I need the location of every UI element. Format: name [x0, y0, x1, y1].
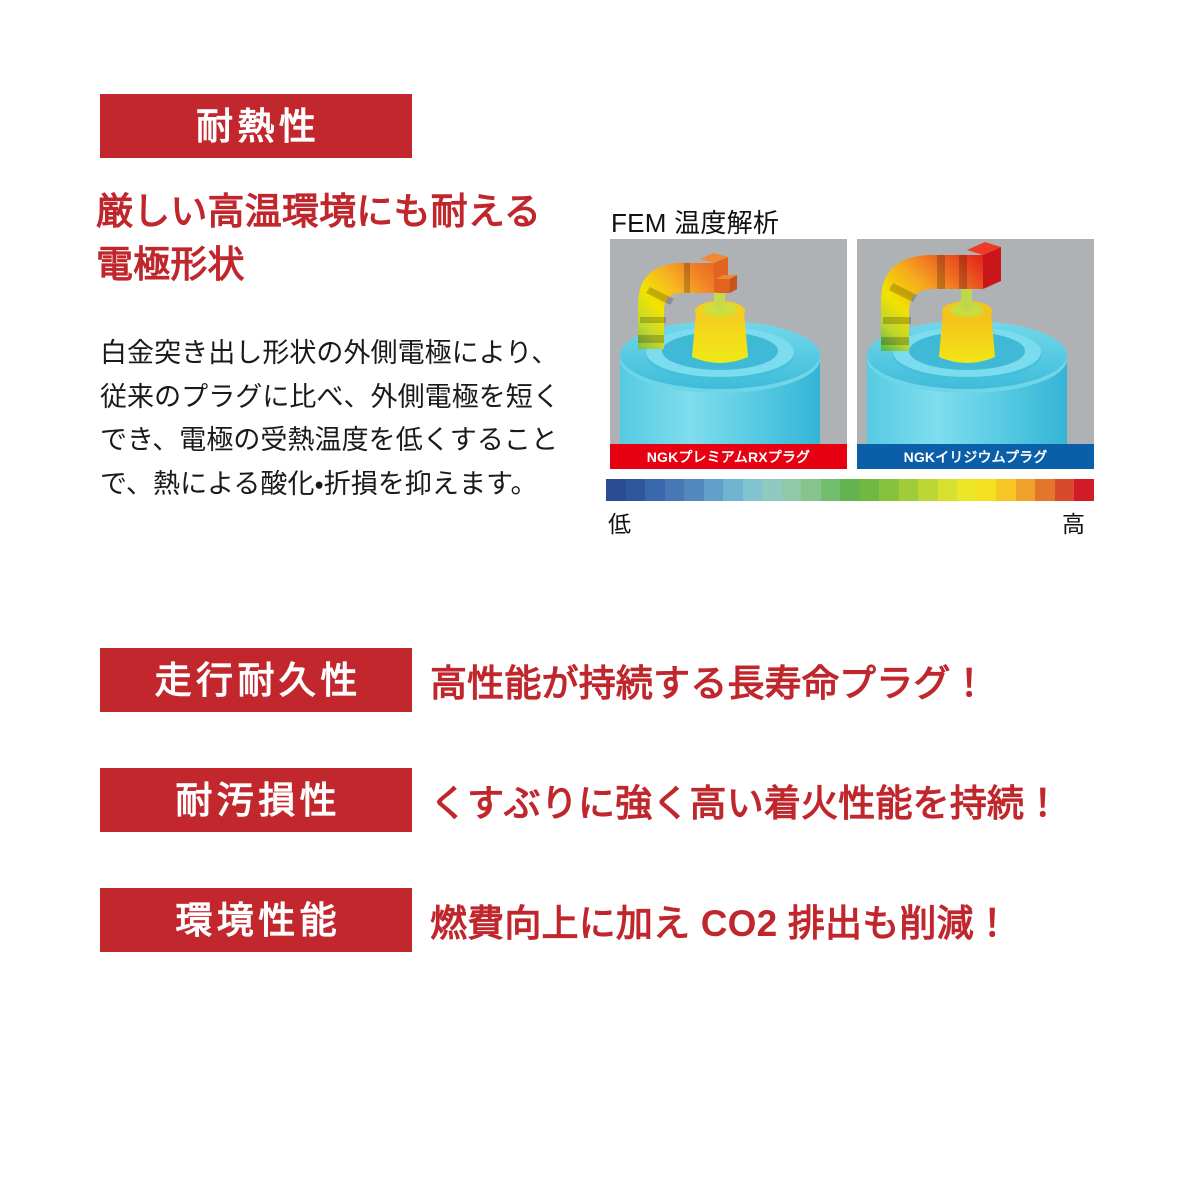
- body-line-2: 従来のプラグに比べ、外側電極を短く: [100, 376, 600, 420]
- spark-plug-thermal-illustration-iridium: [857, 239, 1094, 444]
- colorbar-segment-22: [1035, 479, 1055, 501]
- feature-text-fouling-resistance: くすぶりに強く高い着火性能を持続！: [430, 768, 1061, 832]
- colorbar-segment-19: [977, 479, 997, 501]
- colorbar-segment-17: [938, 479, 958, 501]
- feature-row-fouling-resistance: 耐汚損性 くすぶりに強く高い着火性能を持続！: [0, 768, 1200, 832]
- fem-caption-iridium: NGKイリジウムプラグ: [857, 444, 1094, 469]
- colorbar-segment-11: [821, 479, 841, 501]
- colorbar-segment-6: [723, 479, 743, 501]
- feature-badge-fouling-resistance: 耐汚損性: [100, 768, 412, 832]
- colorbar-segment-14: [879, 479, 899, 501]
- colorbar-segment-2: [645, 479, 665, 501]
- fem-panel-iridium: [857, 239, 1094, 444]
- body-line-4: で、熱による酸化・折損を抑えます。: [100, 463, 600, 507]
- feature-row-durability: 走行耐久性 高性能が持続する長寿命プラグ！: [0, 648, 1200, 712]
- spark-plug-thermal-illustration-rx: [610, 239, 847, 444]
- fem-panel-premium-rx: [610, 239, 847, 444]
- body-line-3: でき、電極の受熱温度を低くすること: [100, 419, 600, 463]
- colorbar-label-high: 高: [1062, 505, 1085, 539]
- colorbar-segment-24: [1074, 479, 1094, 501]
- colorbar-segment-9: [782, 479, 802, 501]
- fem-analysis-title: FEM 温度解析: [611, 203, 779, 240]
- colorbar-segment-8: [762, 479, 782, 501]
- colorbar-segment-0: [606, 479, 626, 501]
- feature-badge-durability: 走行耐久性: [100, 648, 412, 712]
- feature-text-durability: 高性能が持続する長寿命プラグ！: [430, 648, 988, 712]
- colorbar-segment-3: [665, 479, 685, 501]
- colorbar-segment-10: [801, 479, 821, 501]
- colorbar-segment-18: [957, 479, 977, 501]
- colorbar-segment-23: [1055, 479, 1075, 501]
- fem-caption-premium-rx: NGKプレミアムRXプラグ: [610, 444, 847, 469]
- colorbar-segment-16: [918, 479, 938, 501]
- colorbar-segment-5: [704, 479, 724, 501]
- colorbar-segment-1: [626, 479, 646, 501]
- colorbar-segment-7: [743, 479, 763, 501]
- body-line-1: 白金突き出し形状の外側電極により、: [100, 332, 600, 376]
- colorbar-segment-21: [1016, 479, 1036, 501]
- headline-line-1: 厳しい高温環境にも耐える: [96, 191, 541, 232]
- colorbar-label-low: 低: [608, 505, 631, 539]
- colorbar-segment-12: [840, 479, 860, 501]
- colorbar-segment-20: [996, 479, 1016, 501]
- temperature-colorbar: [606, 479, 1094, 501]
- feature-text-environmental: 燃費向上に加え CO2 排出も削減！: [430, 888, 1011, 952]
- feature-badge-environmental: 環境性能: [100, 888, 412, 952]
- section-badge-heat-resistance: 耐熱性: [100, 94, 412, 158]
- feature-row-environmental: 環境性能 燃費向上に加え CO2 排出も削減！: [0, 888, 1200, 952]
- section-body-text: 白金突き出し形状の外側電極により、 従来のプラグに比べ、外側電極を短く でき、電…: [100, 332, 600, 507]
- colorbar-segment-4: [684, 479, 704, 501]
- colorbar-segment-15: [899, 479, 919, 501]
- section-headline: 厳しい高温環境にも耐える 電極形状: [96, 186, 616, 291]
- colorbar-segment-13: [860, 479, 880, 501]
- page-root: 耐熱性 厳しい高温環境にも耐える 電極形状 白金突き出し形状の外側電極により、 …: [0, 0, 1200, 1200]
- headline-line-2: 電極形状: [96, 239, 616, 292]
